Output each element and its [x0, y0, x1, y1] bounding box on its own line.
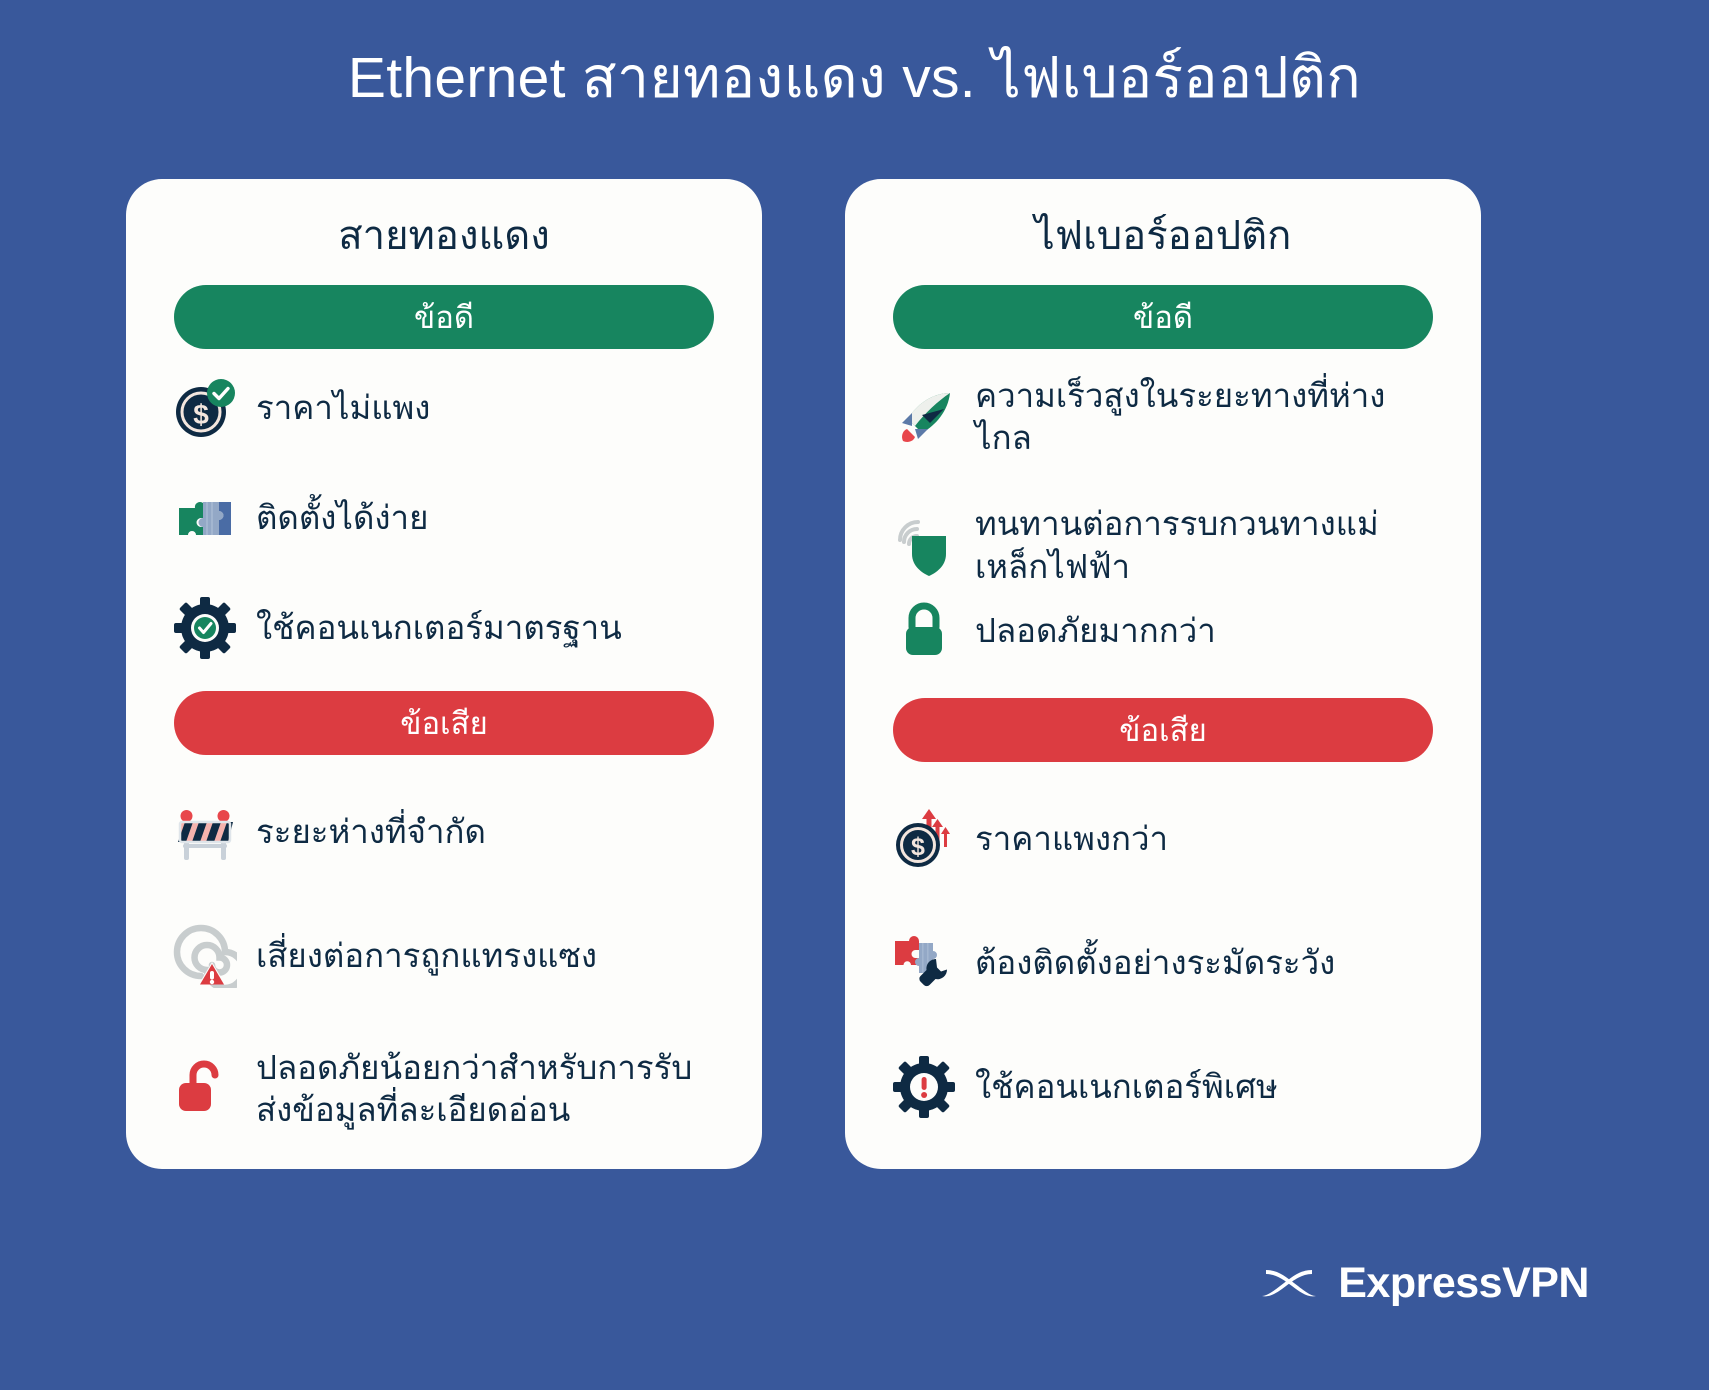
list-item-label: ราคาแพงกว่า: [975, 818, 1168, 860]
list-item-label: ความเร็วสูงในระยะทางที่ห่างไกล: [975, 375, 1435, 459]
card-fiber-pros-list: ความเร็วสูงในระยะทางที่ห่างไกล: [845, 375, 1481, 664]
card-fiber-heading: ไฟเบอร์ออปติก: [845, 179, 1481, 267]
card-fiber-cons-list: $ ราคาแพงกว่า ต้องติดตั้งอย่า: [845, 806, 1481, 1120]
list-item: ปลอดภัยมากกว่า: [845, 598, 1481, 664]
shield-signal-icon: [891, 513, 957, 579]
list-item: $ ราคาแพงกว่า: [845, 806, 1481, 872]
expressvpn-logo-icon: [1256, 1250, 1322, 1316]
list-item: ความเร็วสูงในระยะทางที่ห่างไกล: [845, 375, 1481, 459]
card-copper-cons-list: ระยะห่างที่จำกัด เสี่ยงต่อการถูกแทรงแซง: [126, 799, 762, 1131]
dollar-coin-check-icon: $: [172, 375, 238, 441]
list-item: ต้องติดตั้งอย่างระมัดระวัง: [845, 930, 1481, 996]
card-copper-cons-pill: ข้อเสีย: [174, 691, 714, 755]
list-item: ทนทานต่อการรบกวนทางแม่เหล็กไฟฟ้า: [845, 503, 1481, 587]
list-item-label: เสี่ยงต่อการถูกแทรงแซง: [256, 935, 597, 977]
list-item-label: ปลอดภัยน้อยกว่าสำหรับการรับส่งข้อมูลที่ล…: [256, 1047, 716, 1131]
road-barrier-icon: [172, 799, 238, 865]
rocket-icon: [891, 384, 957, 450]
page-title: Ethernet สายทองแดง vs. ไฟเบอร์ออปติก: [0, 44, 1709, 112]
pros-label: ข้อดี: [414, 292, 474, 342]
dollar-coin-up-arrows-icon: $: [891, 806, 957, 872]
list-item: ใช้คอนเนกเตอร์มาตรฐาน: [126, 595, 762, 661]
list-item: ติดตั้งได้ง่าย: [126, 485, 762, 551]
puzzle-piece-icon: [172, 485, 238, 551]
card-copper-pros-pill: ข้อดี: [174, 285, 714, 349]
list-item-label: ปลอดภัยมากกว่า: [975, 610, 1216, 652]
pros-label: ข้อดี: [1133, 292, 1193, 342]
list-item-label: ใช้คอนเนกเตอร์พิเศษ: [975, 1066, 1278, 1108]
list-item-label: ราคาไม่แพง: [256, 387, 430, 429]
locked-padlock-icon: [891, 598, 957, 664]
card-fiber: ไฟเบอร์ออปติก ข้อดี: [845, 179, 1481, 1169]
spiral-warning-icon: [172, 923, 238, 989]
footer-brand-name: ExpressVPN: [1338, 1259, 1589, 1308]
list-item: ปลอดภัยน้อยกว่าสำหรับการรับส่งข้อมูลที่ล…: [126, 1047, 762, 1131]
card-fiber-cons-pill: ข้อเสีย: [893, 698, 1433, 762]
puzzle-wrench-icon: [891, 930, 957, 996]
list-item-label: ใช้คอนเนกเตอร์มาตรฐาน: [256, 607, 622, 649]
svg-text:$: $: [911, 833, 925, 861]
card-copper: สายทองแดง ข้อดี $ ราคาไม่แพง: [126, 179, 762, 1169]
svg-text:$: $: [193, 399, 209, 430]
list-item-label: ทนทานต่อการรบกวนทางแม่เหล็กไฟฟ้า: [975, 503, 1435, 587]
list-item: ระยะห่างที่จำกัด: [126, 799, 762, 865]
list-item: $ ราคาไม่แพง: [126, 375, 762, 441]
cons-label: ข้อเสีย: [1119, 705, 1207, 755]
comparison-cards: สายทองแดง ข้อดี $ ราคาไม่แพง: [126, 179, 1586, 1169]
list-item-label: ต้องติดตั้งอย่างระมัดระวัง: [975, 942, 1335, 984]
gear-warning-icon: [891, 1054, 957, 1120]
footer-logo: ExpressVPN: [1256, 1250, 1589, 1316]
infographic-page: Ethernet สายทองแดง vs. ไฟเบอร์ออปติก สาย…: [0, 0, 1709, 1390]
gear-check-icon: [172, 595, 238, 661]
list-item-label: ติดตั้งได้ง่าย: [256, 497, 428, 539]
card-copper-heading: สายทองแดง: [126, 179, 762, 267]
list-item: เสี่ยงต่อการถูกแทรงแซง: [126, 923, 762, 989]
card-copper-pros-list: $ ราคาไม่แพง: [126, 375, 762, 661]
cons-label: ข้อเสีย: [400, 698, 488, 748]
list-item-label: ระยะห่างที่จำกัด: [256, 811, 486, 853]
unlocked-padlock-icon: [172, 1056, 238, 1122]
list-item: ใช้คอนเนกเตอร์พิเศษ: [845, 1054, 1481, 1120]
card-fiber-pros-pill: ข้อดี: [893, 285, 1433, 349]
